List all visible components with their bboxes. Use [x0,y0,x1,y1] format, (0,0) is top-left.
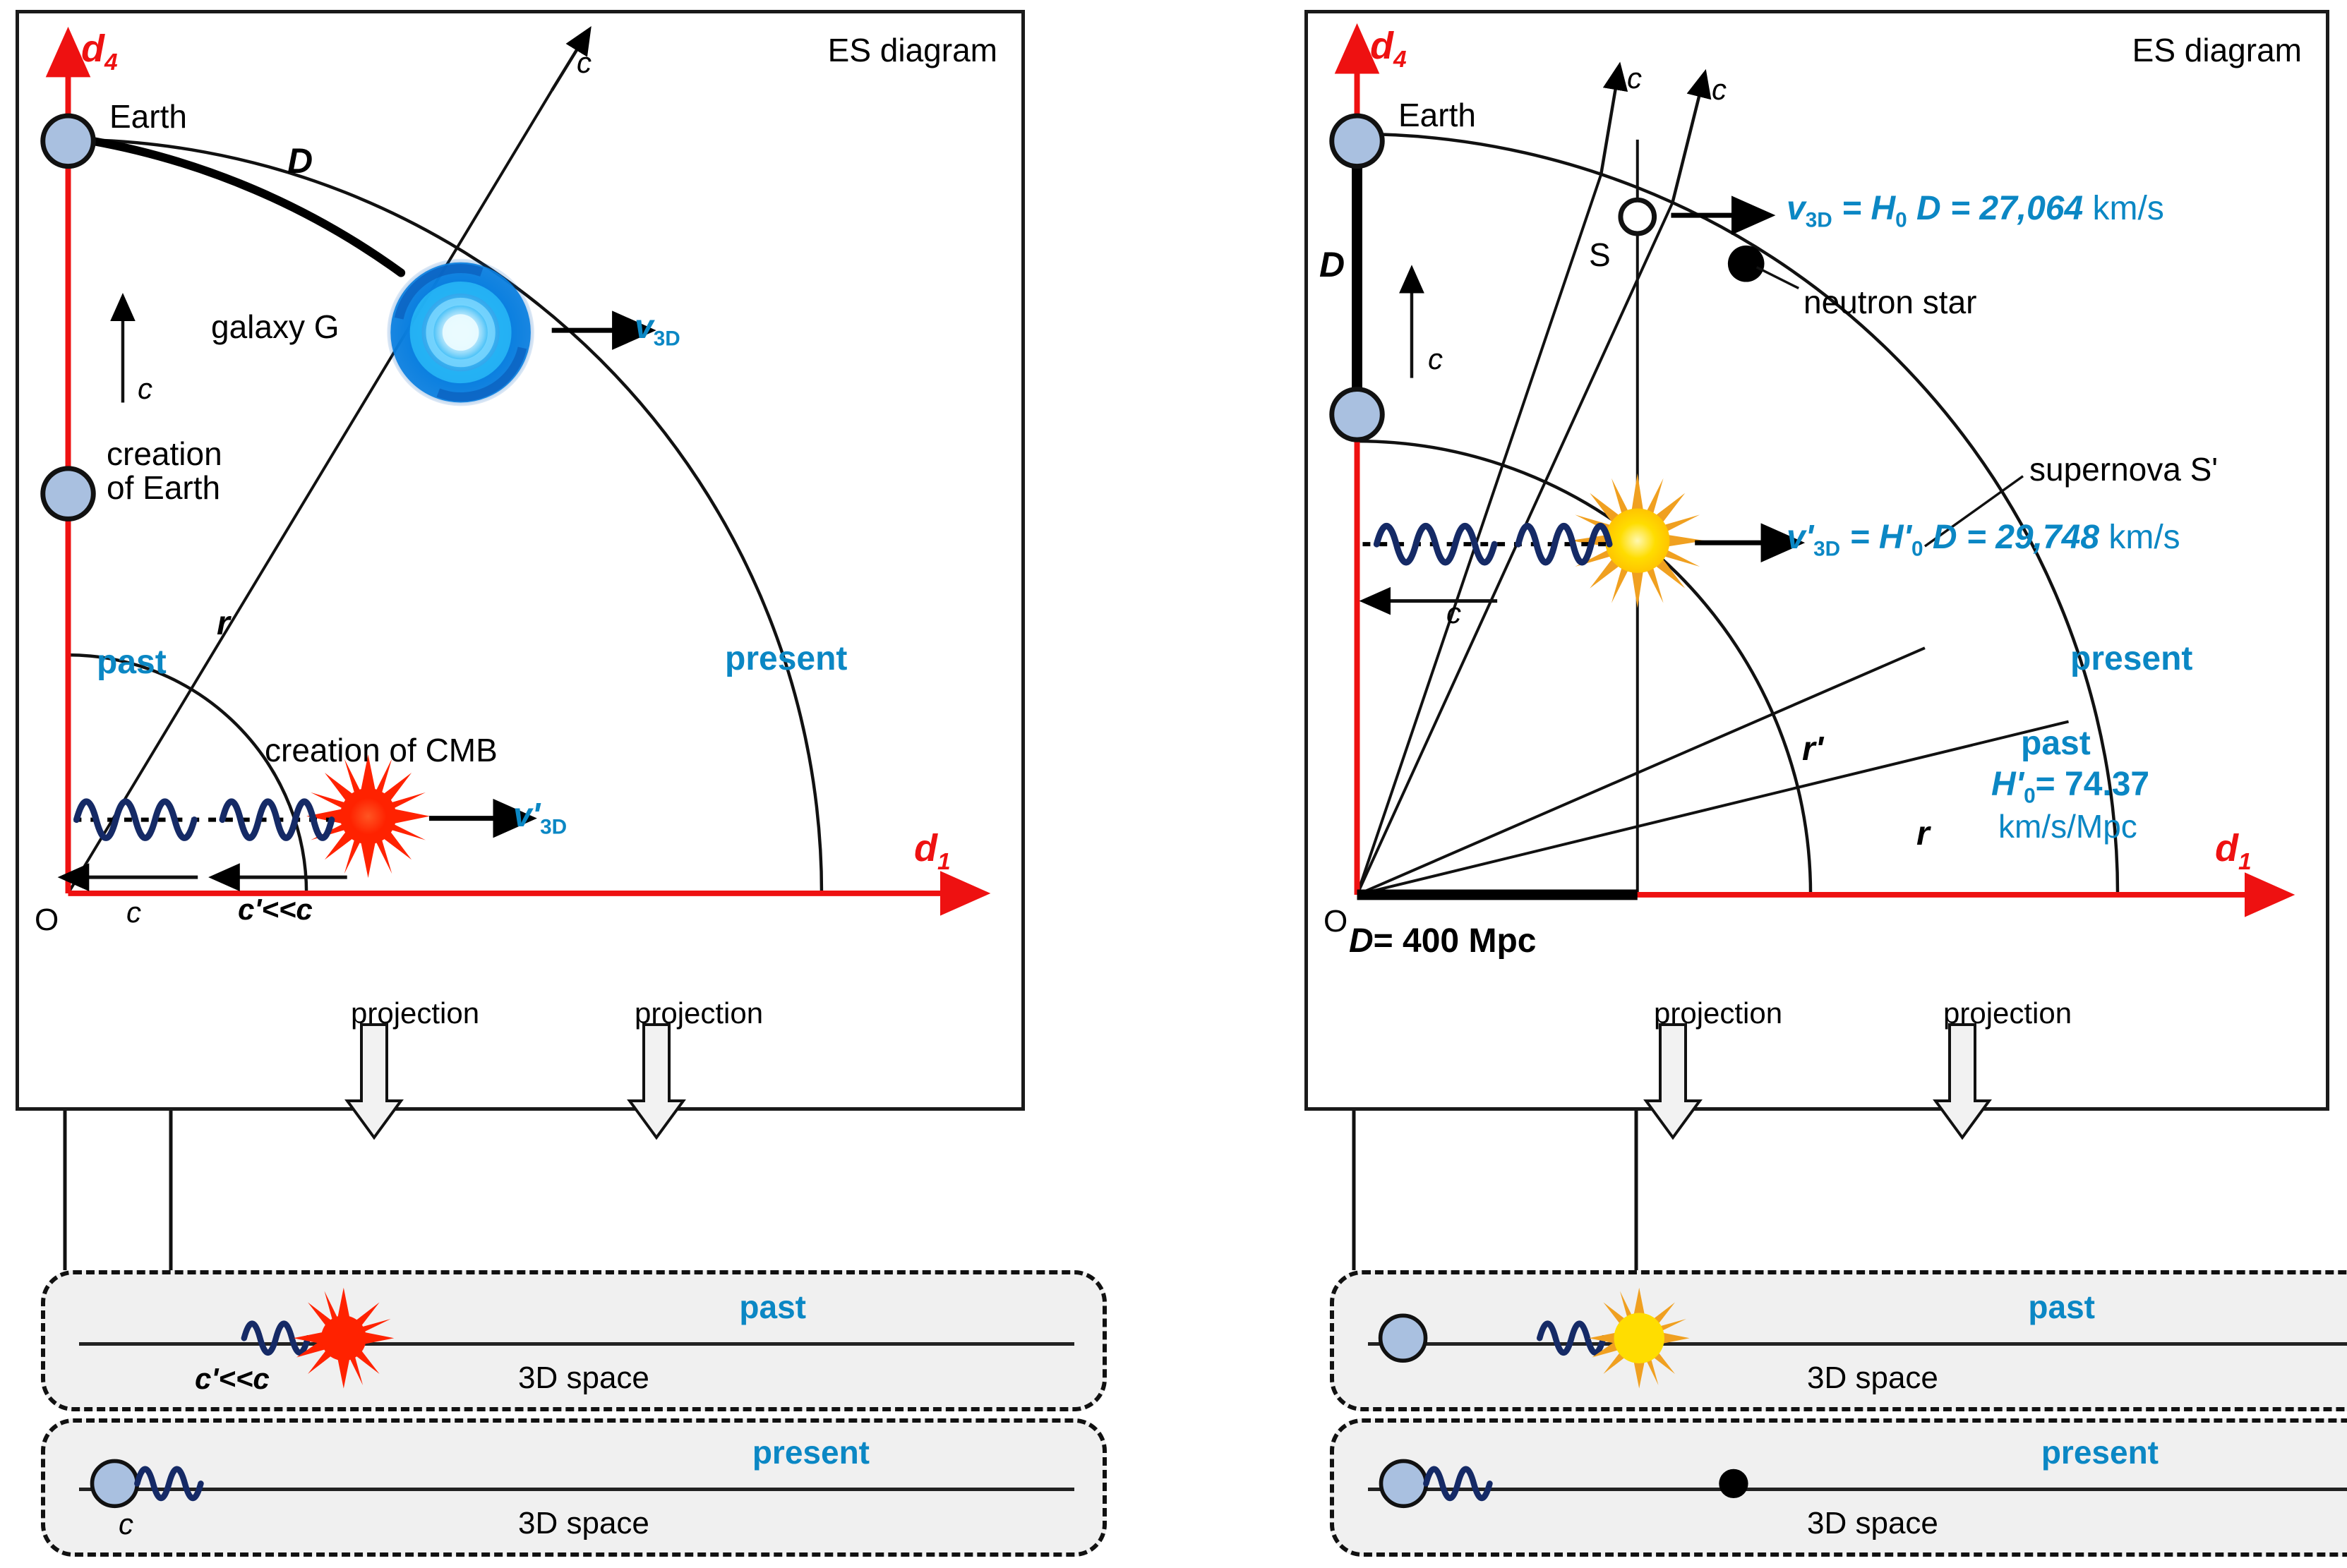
c-left-label: c [1446,598,1461,629]
left-present-speed-label: c [119,1509,133,1540]
earth-label: Earth [109,99,187,133]
c-diagonal-arrow-1 [1601,83,1616,174]
distance-D-label: D [1319,246,1345,284]
right-present-space-box: present 3D space [1330,1418,2347,1557]
galaxy-label: galaxy G [211,310,340,344]
left-past-speed-label: c'<<c [195,1363,270,1394]
v3d-subscript: 3D [1806,209,1832,232]
radius-lower-line [1357,722,2069,895]
radius-prime-label: r' [1802,732,1823,767]
projection-label-1: projection [1654,998,1782,1029]
past-cmb-burst-icon [293,1288,394,1389]
earth-marker [43,116,93,167]
v3d-prime-label: v'3D [513,798,567,838]
supernova-label: supernova S' [2029,452,2218,486]
present-arc [68,140,822,893]
left-panel-graphics [19,13,1021,1107]
v3d-symbol: v [1787,190,1806,227]
radius-r-label: r [217,606,230,641]
present-earth-marker [92,1461,138,1506]
present-arc-label: present [2070,641,2192,677]
v3d-prime-equation: v'3D = H'0 D = 29,748 km/s [1787,520,2180,560]
past-arc-label: past [97,645,167,680]
right-past-space-label: 3D space [1807,1362,1938,1394]
v3d-prime-symbol: v' [1787,519,1813,556]
earth-marker [1332,116,1383,167]
d4-axis-label: d4 [81,29,118,75]
hubble-subscript: 0 [2024,785,2036,808]
c-diagonal-arrow [552,45,580,91]
point-S-marker [1621,200,1655,234]
origin-label: O [35,904,59,936]
present-earth-marker [1381,1461,1427,1506]
hubble-number: = 74.37 [2036,766,2149,803]
origin-label: O [1323,905,1347,938]
v3d-prime-symbol: v' [513,797,540,834]
c-diagonal-arrow-2 [1672,90,1700,203]
projection-label-2: projection [1943,998,2072,1029]
d1-axis-label: d1 [914,828,951,874]
projection-label-1: projection [351,998,479,1029]
hubble-constant-value: H'0= 74.37 [1991,767,2149,807]
distance-value-symbol: D [1349,922,1374,960]
creation-of-earth-label: creation of Earth [107,437,222,505]
present-wave [137,1469,200,1498]
h0-subscript: 0 [1895,209,1907,232]
v3d-eq-mid: = H [1842,190,1895,227]
radius-r-label: r [1916,816,1930,852]
c-diagonal-label-1: c [1627,63,1642,94]
present-neutron-star-marker [1719,1469,1748,1498]
neutron-star-label: neutron star [1803,285,1976,319]
left-present-tag: present [752,1435,870,1469]
v3d-symbol: v [635,308,654,346]
v3d-prime-subscript: 3D [1813,538,1840,561]
right-present-tag: present [2041,1435,2159,1469]
d1-axis-label: d1 [2215,828,2252,874]
past-supernova-burst-icon [1589,1288,1690,1389]
right-past-space-box: past 3D space [1330,1270,2347,1411]
right-past-tag: past [2028,1290,2095,1324]
present-wave [1426,1469,1489,1498]
v3d-prime-eq-units: km/s [2108,519,2180,556]
v3d-eq-units: km/s [2093,190,2164,227]
radius-prime-lower-line [1357,648,1925,895]
left-past-tag: past [739,1290,806,1324]
cmb-wave-left [76,802,194,838]
past-earth-marker [1381,1315,1426,1361]
c-left-label: c [126,897,141,928]
creation-of-earth-line1: creation [107,435,222,472]
v3d-prime-eq-tail: D = 29,748 [1933,519,2099,556]
earth-past-marker [1332,390,1383,440]
past-arc [68,655,307,893]
hubble-units: km/s/Mpc [1998,809,2137,843]
right-es-diagram-panel: ES diagram d4 d1 O Earth D c c c S v3D =… [1304,10,2329,1111]
v3d-eq-tail: D = 27,064 [1916,190,2083,227]
c-vertical-label: c [1428,344,1443,375]
v3d-prime-subscript: 3D [540,816,567,839]
c-vertical-label: c [138,373,152,404]
past-arc-label: past [2021,726,2091,761]
c-diagonal-label: c [577,47,592,78]
distance-D-label: D [287,143,313,180]
present-arc-label: present [725,641,847,677]
cmb-label: creation of CMB [265,733,498,767]
neutron-star-marker [1728,246,1765,282]
distance-value-number: = 400 Mpc [1374,922,1537,960]
hubble-symbol: H' [1991,766,2024,803]
past-arc [1357,441,1811,895]
left-past-space-label: 3D space [518,1362,649,1394]
cmb-burst-icon [306,754,430,878]
creation-of-earth-line2: of Earth [107,469,220,506]
earth-label: Earth [1398,98,1476,132]
d4-axis-label: d4 [1370,26,1407,72]
right-present-space-label: 3D space [1807,1507,1938,1540]
right-panel-title: ES diagram [2132,33,2302,67]
v3d-subscript: 3D [654,327,680,351]
left-present-space-label: 3D space [518,1507,649,1540]
projection-label-2: projection [635,998,763,1029]
c-diagonal-label-2: c [1712,74,1727,105]
h0-prime-subscript: 0 [1911,538,1923,561]
left-es-diagram-panel: ES diagram d4 d1 O Earth D c c creation … [16,10,1025,1111]
galaxy-icon [387,259,534,406]
v3d-prime-eq-mid: = H' [1849,519,1911,556]
left-present-space-box: present 3D space c [41,1418,1107,1557]
distance-value-label: D= 400 Mpc [1349,924,1536,959]
left-past-space-box: past 3D space c'<<c [41,1270,1107,1411]
creation-of-earth-marker [43,469,93,519]
v3d-label: v3D [635,310,680,350]
c-prime-label: c'<<c [238,894,313,925]
supernova-wave-left [1376,526,1494,562]
v3d-equation: v3D = H0 D = 27,064 km/s [1787,191,2164,231]
cmb-wave-right [222,802,332,838]
point-S-label: S [1589,238,1611,272]
left-panel-title: ES diagram [828,33,997,67]
